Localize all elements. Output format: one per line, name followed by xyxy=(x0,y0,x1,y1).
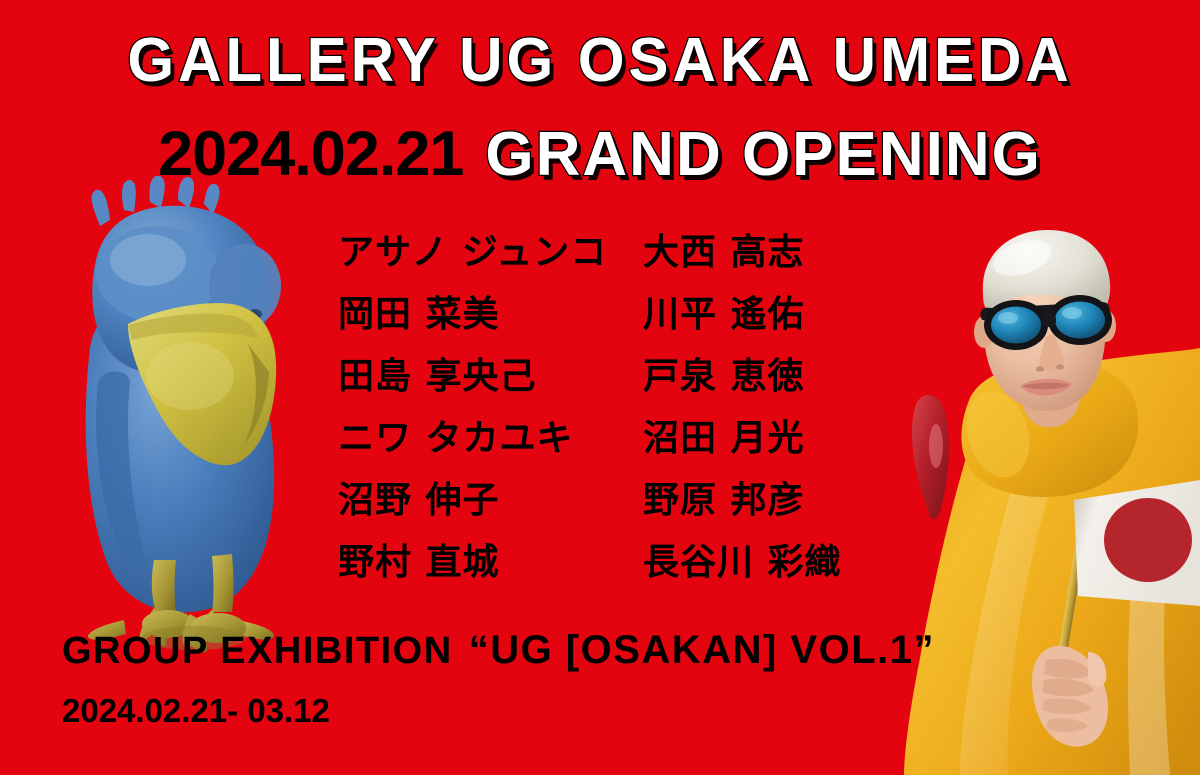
artist-name: 野原 邦彦 xyxy=(643,476,842,525)
page-title-gallery-name: GALLERY UG OSAKA UMEDA xyxy=(18,25,1182,96)
artist-name: 川平 遙佑 xyxy=(643,290,842,339)
exhibition-title-main: GROUP EXHIBITION xyxy=(62,630,453,672)
artist-name: 田島 享央己 xyxy=(338,352,643,401)
artist-name: ニワ タカユキ xyxy=(338,414,643,463)
grand-opening-label: GRAND OPENING xyxy=(485,120,1041,189)
artist-name: 沼田 月光 xyxy=(643,414,842,463)
blue-bird-sculpture-image xyxy=(62,168,322,658)
exhibition-title: GROUP EXHIBITION“UG [OSAKAN] VOL.1” xyxy=(62,628,935,673)
artist-name: 岡田 菜美 xyxy=(338,290,643,339)
artist-name: 野村 直城 xyxy=(338,538,643,587)
exhibition-dates: 2024.02.21- 03.12 xyxy=(62,692,330,730)
artist-name: 大西 高志 xyxy=(643,228,842,277)
artist-name-list: アサノ ジュンコ 大西 高志 岡田 菜美 川平 遙佑 田島 享央己 戸泉 恵徳 … xyxy=(338,228,842,587)
artist-name: アサノ ジュンコ xyxy=(338,228,643,277)
artist-name: 長谷川 彩織 xyxy=(643,538,842,587)
artist-name: 戸泉 恵徳 xyxy=(643,352,842,401)
exhibition-title-quoted: “UG [OSAKAN] VOL.1” xyxy=(469,628,935,672)
artist-name: 沼野 伸子 xyxy=(338,476,643,525)
poster-canvas: GALLERY UG OSAKA UMEDA 2024.02.21GRAND O… xyxy=(0,0,1200,775)
banana-swimmer-sculpture-image xyxy=(870,228,1200,775)
